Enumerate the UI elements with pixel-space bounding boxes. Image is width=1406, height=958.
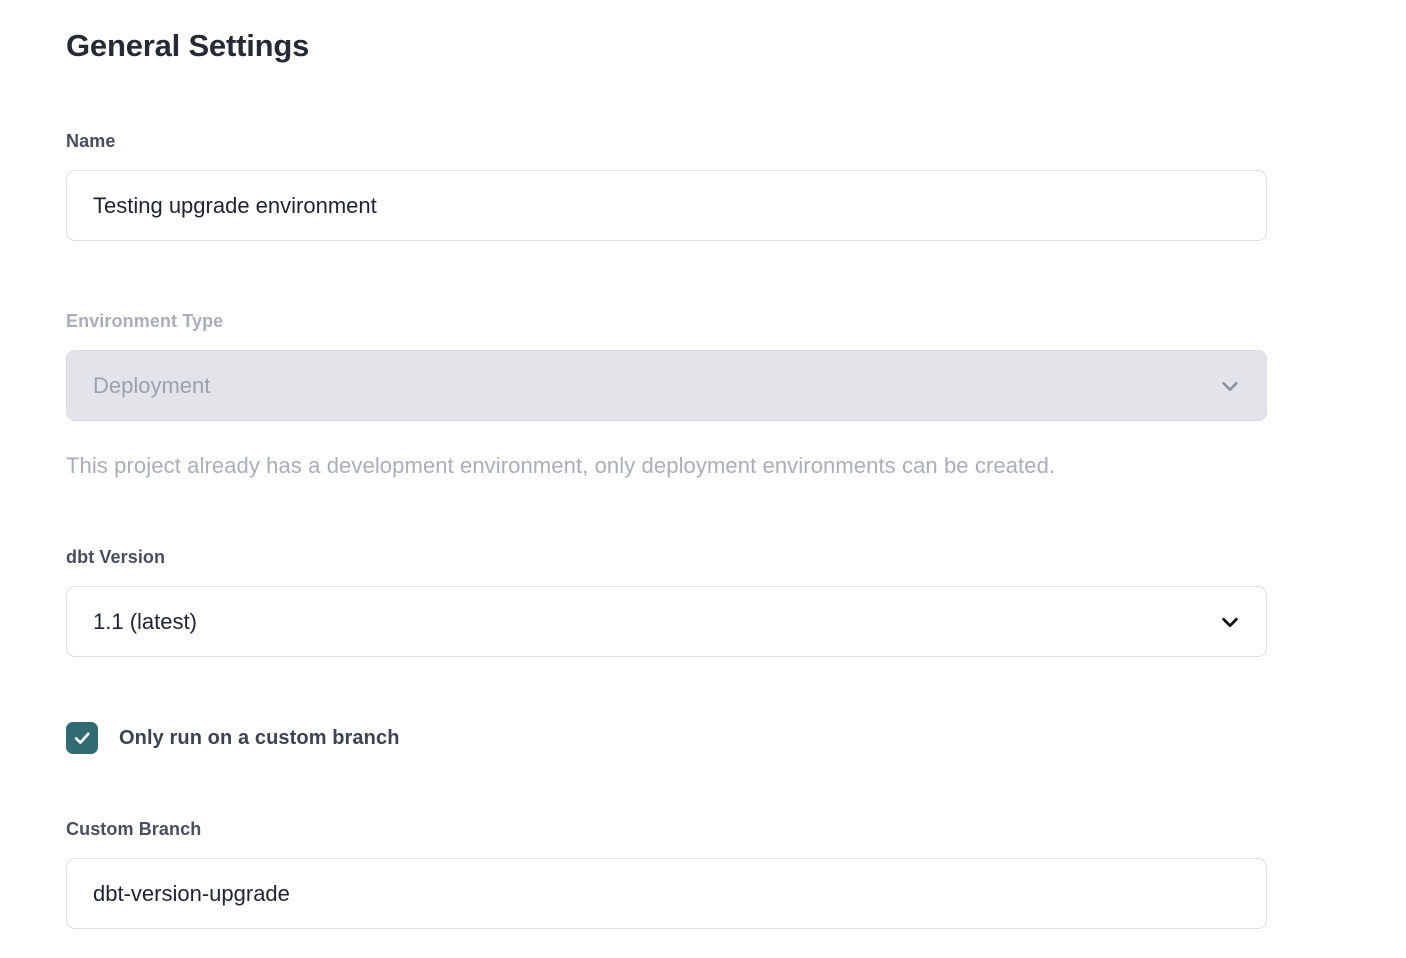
dbt-version-field-group: dbt Version 1.1 (latest) [66, 546, 1267, 657]
page-title: General Settings [66, 0, 1406, 66]
environment-type-select-wrap: Deployment [66, 350, 1267, 421]
general-settings-page: General Settings Name Environment Type D… [0, 0, 1406, 958]
dbt-version-select[interactable]: 1.1 (latest) [66, 586, 1267, 657]
custom-branch-input[interactable] [66, 858, 1267, 929]
custom-branch-checkbox-row[interactable]: Only run on a custom branch [66, 722, 400, 754]
check-icon [72, 728, 92, 748]
environment-type-helper-text: This project already has a development e… [66, 452, 1316, 480]
name-input[interactable] [66, 170, 1267, 241]
custom-branch-label: Custom Branch [66, 818, 1267, 840]
dbt-version-value: 1.1 (latest) [93, 609, 197, 635]
name-field-group: Name [66, 130, 1267, 241]
name-label: Name [66, 130, 1267, 152]
custom-branch-checkbox[interactable] [66, 722, 98, 754]
environment-type-select: Deployment [66, 350, 1267, 421]
environment-type-field-group: Environment Type Deployment [66, 310, 1267, 421]
environment-type-value: Deployment [93, 373, 210, 399]
environment-type-label: Environment Type [66, 310, 1267, 332]
dbt-version-select-wrap[interactable]: 1.1 (latest) [66, 586, 1267, 657]
custom-branch-checkbox-label[interactable]: Only run on a custom branch [119, 727, 400, 750]
custom-branch-field-group: Custom Branch [66, 818, 1267, 929]
dbt-version-label: dbt Version [66, 546, 1267, 568]
